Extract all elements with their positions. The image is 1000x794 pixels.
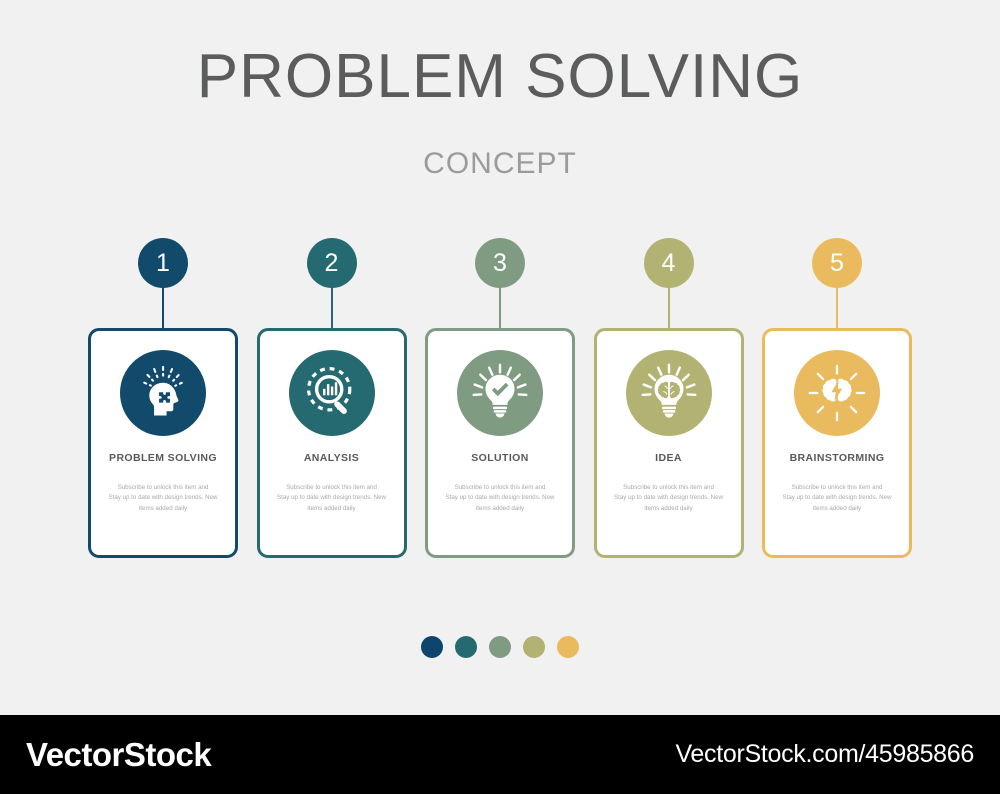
page-subtitle: CONCEPT [0,109,1000,181]
step-5-card[interactable]: BRAINSTORMING Subscribe to unlock this i… [762,328,912,558]
page-title: PROBLEM SOLVING [0,44,1000,109]
step-1[interactable]: 1 [88,238,238,558]
step-4-icon-circle [626,350,712,436]
step-2-card[interactable]: ANALYSIS Subscribe to unlock this item a… [257,328,407,558]
step-5-number: 5 [830,251,844,276]
step-1-connector [162,287,164,329]
step-1-label: PROBLEM SOLVING [109,453,217,464]
step-2-icon-circle [289,350,375,436]
step-5-icon-circle [794,350,880,436]
step-3-icon-circle [457,350,543,436]
step-3[interactable]: 3 [425,238,575,558]
step-3-number-badge[interactable]: 3 [475,238,525,288]
color-dot-1[interactable] [421,636,443,658]
step-1-number-badge[interactable]: 1 [138,238,188,288]
page-header: PROBLEM SOLVING CONCEPT [0,0,1000,181]
step-2[interactable]: 2 [257,238,407,558]
step-2-number: 2 [325,251,339,276]
magnifier-chart-icon [302,363,362,423]
step-4-number: 4 [662,251,676,276]
head-puzzle-icon [133,363,193,423]
watermark-footer: VectorStock VectorStock.com/45985866 [0,715,1000,794]
step-2-connector [331,287,333,329]
step-5[interactable]: 5 [762,238,912,558]
step-5-number-badge[interactable]: 5 [812,238,862,288]
step-2-label: ANALYSIS [304,453,359,464]
vectorstock-logo: VectorStock [26,736,211,774]
step-4[interactable]: 4 [594,238,744,558]
step-2-number-badge[interactable]: 2 [307,238,357,288]
color-dot-5[interactable] [557,636,579,658]
step-4-connector [668,287,670,329]
step-1-description: Subscribe to unlock this item and Stay u… [104,483,222,516]
step-1-icon-circle [120,350,206,436]
step-3-number: 3 [493,251,507,276]
lightbulb-check-icon [470,363,530,423]
step-5-label: BRAINSTORMING [790,453,885,464]
step-4-description: Subscribe to unlock this item and Stay u… [610,483,728,516]
step-4-number-badge[interactable]: 4 [644,238,694,288]
vectorstock-url: VectorStock.com/45985866 [675,740,974,769]
color-dots [0,636,1000,658]
brain-bolt-icon [807,363,867,423]
step-1-card[interactable]: PROBLEM SOLVING Subscribe to unlock this… [88,328,238,558]
step-3-connector [499,287,501,329]
color-dot-3[interactable] [489,636,511,658]
step-4-card[interactable]: IDEA Subscribe to unlock this item and S… [594,328,744,558]
color-dot-2[interactable] [455,636,477,658]
step-3-card[interactable]: SOLUTION Subscribe to unlock this item a… [425,328,575,558]
lightbulb-brain-icon [639,363,699,423]
step-2-description: Subscribe to unlock this item and Stay u… [273,483,391,516]
step-3-label: SOLUTION [471,453,528,464]
step-4-label: IDEA [655,453,682,464]
infographic-steps: 1 [88,238,912,558]
color-dot-4[interactable] [523,636,545,658]
step-5-connector [836,287,838,329]
step-5-description: Subscribe to unlock this item and Stay u… [778,483,896,516]
step-3-description: Subscribe to unlock this item and Stay u… [441,483,559,516]
step-1-number: 1 [156,251,170,276]
